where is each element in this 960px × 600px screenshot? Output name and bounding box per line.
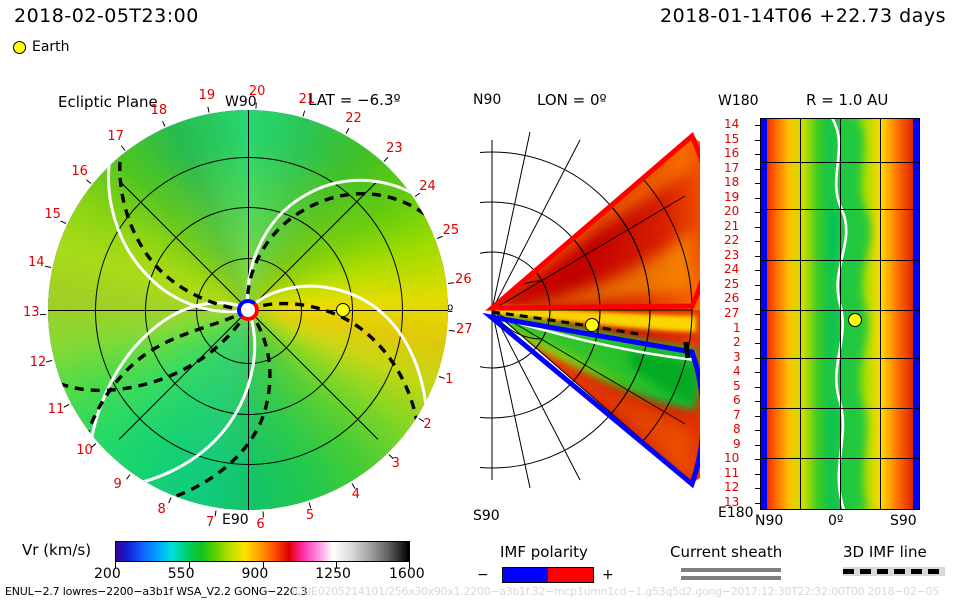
map1au-y-tick-label: 25 xyxy=(724,277,739,291)
footer-detail: IQUE0205214101/256x30x90x1.2200−a3b1f.32… xyxy=(292,585,939,598)
map1au-y-tick-label: 14 xyxy=(724,117,739,131)
map1au-y-tick-label: 7 xyxy=(733,408,741,422)
current-sheath-legend-title: Current sheath xyxy=(670,543,782,561)
map1au-x-tick-label: N90 xyxy=(755,513,783,529)
meridional-polarity-neutral xyxy=(686,342,688,358)
map1au-gridline-vertical xyxy=(800,118,801,510)
map1au-y-tick-mark xyxy=(755,183,760,184)
map1au-y-tick-label: 21 xyxy=(724,219,739,233)
map1au-y-tick-label: 10 xyxy=(724,451,739,465)
map1au-y-tick-mark xyxy=(755,358,760,359)
map1au-y-tick-mark xyxy=(755,372,760,373)
colorbar-tick-label: 1250 xyxy=(315,566,351,582)
map1au-y-tick-label: 13 xyxy=(724,495,739,509)
ecliptic-tick-mark xyxy=(215,510,217,516)
ecliptic-longitude-tick: 26 xyxy=(455,272,472,287)
map1au-y-tick-mark xyxy=(755,154,760,155)
ecliptic-panel-title: Ecliptic Plane xyxy=(58,93,158,111)
map1au-y-tick-mark xyxy=(755,198,760,199)
current-sheath-swatch-top xyxy=(681,568,781,572)
map1au-y-tick-mark xyxy=(755,314,760,315)
map1au-y-tick-mark xyxy=(755,387,760,388)
map1au-y-tick-label: 20 xyxy=(724,204,739,218)
ecliptic-longitude-tick: 18 xyxy=(151,103,168,118)
ecliptic-plane-plot xyxy=(48,110,448,510)
ecliptic-longitude-tick: 16 xyxy=(71,164,88,179)
map1au-y-tick-mark xyxy=(755,503,760,504)
map1au-y-tick-mark xyxy=(755,343,760,344)
map1au-y-tick-mark xyxy=(755,459,760,460)
map1au-y-tick-mark xyxy=(755,125,760,126)
ecliptic-longitude-tick: 13 xyxy=(23,305,40,320)
ecliptic-longitude-tick: 17 xyxy=(107,129,124,144)
map1au-y-tick-mark xyxy=(755,488,760,489)
ecliptic-longitude-tick: 4 xyxy=(352,487,360,502)
earth-marker-ecliptic xyxy=(336,303,350,317)
earth-marker-icon xyxy=(13,41,26,54)
ecliptic-longitude-tick: 21 xyxy=(299,92,316,107)
map1au-y-tick-mark xyxy=(755,329,760,330)
map1au-y-tick-mark xyxy=(755,299,760,300)
map1au-y-tick-label: 9 xyxy=(733,437,741,451)
map1au-gridline-vertical xyxy=(880,118,881,510)
map1au-y-tick-label: 15 xyxy=(724,132,739,146)
sun-polarity-positive-icon xyxy=(237,299,259,321)
meridional-svg xyxy=(480,110,700,510)
map1au-y-tick-mark xyxy=(755,474,760,475)
map1au-y-tick-mark xyxy=(755,227,760,228)
map1au-y-tick-label: 3 xyxy=(733,350,741,364)
map1au-y-tick-label: 27 xyxy=(724,306,739,320)
map1au-title: R = 1.0 AU xyxy=(806,91,888,109)
ecliptic-longitude-tick: 5 xyxy=(306,508,314,523)
ecliptic-tick-mark xyxy=(448,282,454,284)
map1au-y-tick-label: 19 xyxy=(724,190,739,204)
ecliptic-longitude-tick: 25 xyxy=(443,223,460,238)
map1au-y-tick-mark xyxy=(755,416,760,417)
map1au-y-tick-label: 17 xyxy=(724,161,739,175)
ecliptic-longitude-tick: 7 xyxy=(206,515,214,530)
ecliptic-longitude-tick: 1 xyxy=(445,372,453,387)
map1au-y-tick-label: 11 xyxy=(724,466,739,480)
ecliptic-longitude-tick: 14 xyxy=(28,255,45,270)
meridional-top-label: N90 xyxy=(473,92,501,108)
ecliptic-bottom-label: E90 xyxy=(222,512,249,528)
colorbar-tick-label: 200 xyxy=(94,566,121,582)
meridional-lon-label: LON = 0º xyxy=(537,91,607,109)
map1au-y-tick-mark xyxy=(755,212,760,213)
imf-polarity-minus: − xyxy=(477,567,489,583)
ecliptic-tick-mark xyxy=(449,330,455,332)
imf-polarity-legend-title: IMF polarity xyxy=(500,543,588,561)
map1au-y-tick-label: 16 xyxy=(724,146,739,160)
map1au-y-tick-label: 1 xyxy=(733,321,741,335)
timestamp-left: 2018-02-05T23:00 xyxy=(14,5,199,27)
map1au-y-tick-label: 24 xyxy=(724,262,739,276)
map1au-y-tick-mark xyxy=(755,140,760,141)
ecliptic-tick-mark xyxy=(256,103,257,109)
imf-polarity-swatch xyxy=(502,567,594,583)
map1au-y-tick-label: 5 xyxy=(733,379,741,393)
ecliptic-longitude-tick: 24 xyxy=(419,179,436,194)
map1au-y-tick-label: 23 xyxy=(724,248,739,262)
map1au-y-tick-label: 4 xyxy=(733,364,741,378)
colorbar xyxy=(115,541,410,562)
colorbar-label: Vr (km/s) xyxy=(22,541,91,559)
colorbar-tick-label: 550 xyxy=(168,566,195,582)
map1au-x-tick-label: 0º xyxy=(828,513,844,529)
imf-line-swatch xyxy=(843,569,945,574)
imf-line-legend-title: 3D IMF line xyxy=(843,543,927,561)
earth-legend-label: Earth xyxy=(32,39,70,55)
ecliptic-longitude-tick: 23 xyxy=(386,141,403,156)
ecliptic-longitude-tick: 12 xyxy=(30,355,47,370)
ecliptic-longitude-tick: 19 xyxy=(199,88,216,103)
ecliptic-longitude-tick: 15 xyxy=(44,207,61,222)
timestamp-right: 2018-01-14T06 +22.73 days xyxy=(660,5,946,27)
ecliptic-tick-mark xyxy=(45,266,51,268)
ecliptic-longitude-tick: 6 xyxy=(256,517,264,532)
map1au-y-tick-mark xyxy=(755,401,760,402)
ecliptic-longitude-tick: 2 xyxy=(423,417,431,432)
earth-marker-meridional xyxy=(585,318,599,332)
map1au-y-tick-mark xyxy=(755,169,760,170)
map1au-top-left-label: W180 xyxy=(718,93,759,109)
ecliptic-tick-mark xyxy=(40,314,46,315)
map1au-y-tick-label: 18 xyxy=(724,175,739,189)
ecliptic-longitude-tick: 11 xyxy=(48,402,65,417)
ecliptic-tick-mark xyxy=(263,512,264,518)
ecliptic-longitude-tick: 27 xyxy=(456,322,473,337)
map1au-y-tick-mark xyxy=(755,241,760,242)
footer-run-id: ENUL−2.7 lowres−2200−a3b1f WSA_V2.2 GONG… xyxy=(5,585,307,598)
map1au-y-tick-label: 26 xyxy=(724,291,739,305)
enlil-visualization: 2018-02-05T23:00 2018-01-14T06 +22.73 da… xyxy=(0,0,960,600)
map1au-x-tick-label: S90 xyxy=(890,513,917,529)
earth-marker-map1au xyxy=(848,313,862,327)
map1au-y-tick-mark xyxy=(755,285,760,286)
map1au-y-tick-label: 22 xyxy=(724,233,739,247)
meridional-slice-plot xyxy=(480,110,700,510)
ecliptic-lat-label: LAT = −6.3º xyxy=(308,91,401,109)
ecliptic-longitude-tick: 9 xyxy=(113,477,121,492)
ecliptic-longitude-tick: 8 xyxy=(158,502,166,517)
ecliptic-longitude-tick: 22 xyxy=(345,111,362,126)
colorbar-tick-label: 900 xyxy=(242,566,269,582)
map1au-y-tick-mark xyxy=(755,430,760,431)
colorbar-tick-label: 1600 xyxy=(389,566,425,582)
map1au-y-tick-label: 2 xyxy=(733,335,741,349)
meridional-bottom-label: S90 xyxy=(473,508,500,524)
map1au-gridline-vertical xyxy=(840,118,841,510)
map1au-y-tick-label: 6 xyxy=(733,393,741,407)
imf-polarity-plus: + xyxy=(602,567,614,583)
map1au-y-tick-mark xyxy=(755,270,760,271)
map1au-y-tick-mark xyxy=(755,256,760,257)
ecliptic-longitude-tick: 10 xyxy=(76,443,93,458)
map1au-y-tick-label: 12 xyxy=(724,480,739,494)
map1au-y-tick-label: 8 xyxy=(733,422,741,436)
map1au-y-tick-mark xyxy=(755,445,760,446)
ecliptic-longitude-tick: 20 xyxy=(249,84,266,99)
current-sheath-swatch-bottom xyxy=(681,576,781,580)
